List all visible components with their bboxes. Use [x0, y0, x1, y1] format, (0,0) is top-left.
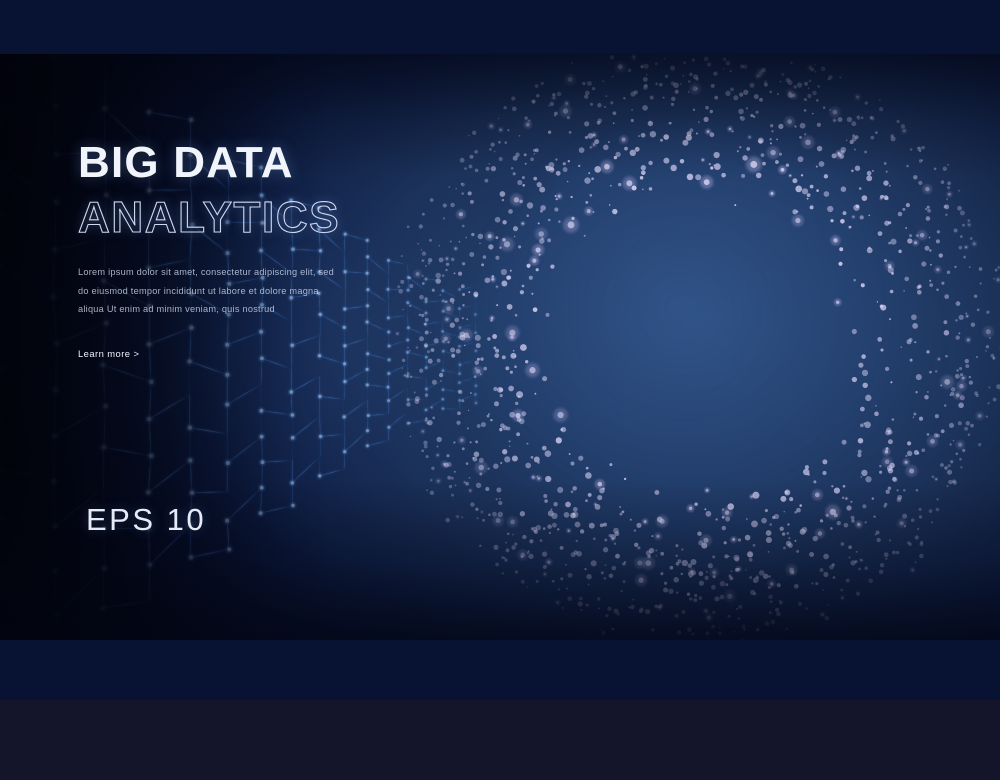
eps-version-label: EPS 10 — [86, 502, 206, 538]
top-navy-band — [0, 0, 1000, 54]
poster-canvas: BIG DATA ANALYTICS Lorem ipsum dolor sit… — [0, 0, 1000, 780]
lead-paragraph: Lorem ipsum dolor sit amet, consectetur … — [78, 263, 340, 318]
learn-more-link[interactable]: Learn more > — [78, 348, 139, 359]
hero-text-block: BIG DATA ANALYTICS Lorem ipsum dolor sit… — [78, 140, 388, 362]
artwork-area: BIG DATA ANALYTICS Lorem ipsum dolor sit… — [0, 54, 1000, 640]
page-title: BIG DATA — [78, 140, 388, 187]
watermark-footer: VectorStock® VectorStock.com/33968750 — [0, 700, 1000, 780]
bottom-navy-band — [0, 640, 1000, 700]
page-subtitle-outline: ANALYTICS — [78, 195, 388, 242]
